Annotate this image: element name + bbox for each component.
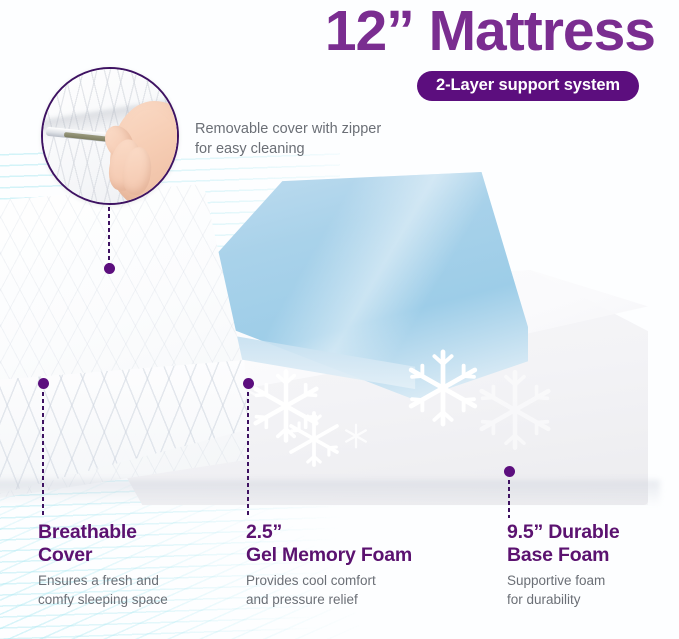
feature-desc-line2: for durability	[507, 592, 581, 607]
feature-heading-line2: Base Foam	[507, 544, 609, 566]
connector-dot-durable-base-foam	[504, 466, 515, 477]
mattress-drop-shadow	[0, 480, 660, 506]
connector-line-zipper	[108, 207, 110, 265]
feature-heading-line1: 2.5”	[246, 521, 282, 543]
connector-line-breathable-cover	[42, 392, 44, 518]
connector-dot-gel-memory-foam	[243, 378, 254, 389]
feature-heading: Breathable Cover	[38, 521, 238, 566]
feature-description: Supportive foam for durability	[507, 572, 677, 609]
feature-heading: 2.5” Gel Memory Foam	[246, 521, 466, 566]
callout-zipper-line1: Removable cover with zipper	[195, 120, 445, 140]
connector-line-gel-memory-foam	[247, 392, 249, 518]
page-title: 12” Mattress	[0, 2, 655, 62]
feature-heading-line2: Gel Memory Foam	[246, 544, 412, 566]
feature-description: Provides cool comfort and pressure relie…	[246, 572, 466, 609]
connector-dot-breathable-cover	[38, 378, 49, 389]
feature-heading-line1: 9.5” Durable	[507, 521, 619, 543]
feature-desc-line1: Supportive foam	[507, 573, 605, 588]
feature-durable-base-foam: 9.5” Durable Base Foam Supportive foam f…	[507, 521, 677, 609]
connector-line-durable-base-foam	[508, 480, 510, 518]
feature-heading-line2: Cover	[38, 544, 92, 566]
feature-heading: 9.5” Durable Base Foam	[507, 521, 677, 566]
status-badge: 2-Layer support system	[417, 71, 639, 101]
feature-desc-line1: Provides cool comfort	[246, 573, 376, 588]
infographic-canvas: 12” Mattress 2-Layer support system	[0, 0, 679, 639]
feature-heading-line1: Breathable	[38, 521, 137, 543]
feature-desc-line2: comfy sleeping space	[38, 592, 168, 607]
feature-gel-memory-foam: 2.5” Gel Memory Foam Provides cool comfo…	[246, 521, 466, 609]
feature-list: Breathable Cover Ensures a fresh and com…	[0, 521, 679, 639]
connector-dot-zipper	[104, 263, 115, 274]
feature-breathable-cover: Breathable Cover Ensures a fresh and com…	[38, 521, 238, 609]
feature-desc-line1: Ensures a fresh and	[38, 573, 159, 588]
feature-desc-line2: and pressure relief	[246, 592, 358, 607]
callout-zipper-line2: for easy cleaning	[195, 140, 445, 160]
zipper-closeup-inset	[41, 67, 179, 205]
callout-zipper-text: Removable cover with zipper for easy cle…	[195, 120, 445, 159]
feature-description: Ensures a fresh and comfy sleeping space	[38, 572, 238, 609]
